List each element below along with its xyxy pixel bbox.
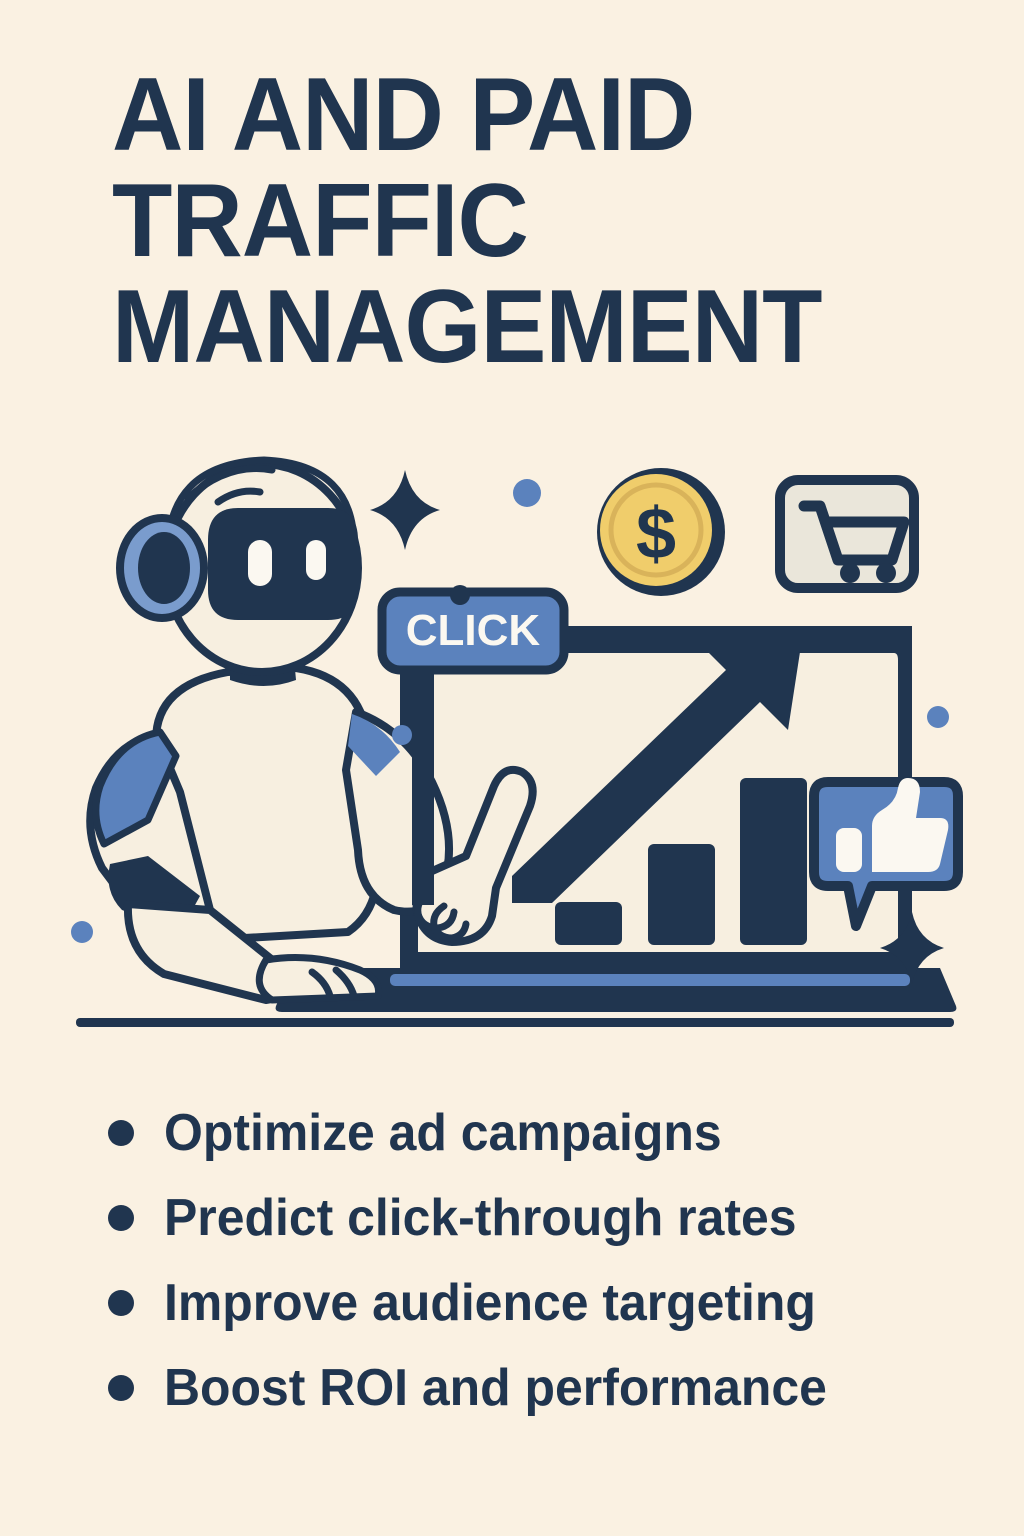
dot-decor: [513, 479, 541, 507]
bullet-dot-icon: [108, 1120, 134, 1146]
list-item: Boost ROI and performance: [108, 1345, 968, 1430]
click-button-label: CLICK: [406, 606, 541, 655]
benefits-list: Optimize ad campaigns Predict click-thro…: [108, 1090, 968, 1430]
dot-decor: [927, 706, 949, 728]
dot-decor: [71, 921, 93, 943]
shopping-cart-icon: [780, 480, 914, 588]
bullet-dot-icon: [108, 1205, 134, 1231]
list-item-label: Optimize ad campaigns: [164, 1105, 722, 1161]
title-line-3: MANAGEMENT: [112, 274, 901, 380]
robot-eye-right: [306, 540, 326, 580]
list-item: Predict click-through rates: [108, 1175, 968, 1260]
bullet-dot-icon: [108, 1375, 134, 1401]
list-item-label: Boost ROI and performance: [164, 1360, 827, 1416]
robot-eye-left: [248, 540, 272, 586]
dot-decor: [450, 585, 470, 605]
coin-dollar-glyph: $: [636, 494, 676, 574]
bullet-dot-icon: [108, 1290, 134, 1316]
headphone-icon: [120, 518, 204, 618]
list-item: Optimize ad campaigns: [108, 1090, 968, 1175]
list-item-label: Predict click-through rates: [164, 1190, 796, 1246]
sparkle-icon: [370, 470, 440, 550]
title-line-2: TRAFFIC: [112, 168, 901, 274]
dollar-coin-icon: $: [597, 468, 725, 596]
poster-canvas: AI AND PAID TRAFFIC MANAGEMENT .ink { fi…: [0, 0, 1024, 1536]
list-item-label: Improve audience targeting: [164, 1275, 816, 1331]
dot-decor: [392, 725, 412, 745]
page-title: AI AND PAID TRAFFIC MANAGEMENT: [112, 62, 942, 380]
title-line-1: AI AND PAID: [112, 62, 901, 168]
list-item: Improve audience targeting: [108, 1260, 968, 1345]
hero-illustration: .ink { fill: #20354f; } .cream { fill: #…: [60, 440, 970, 1060]
